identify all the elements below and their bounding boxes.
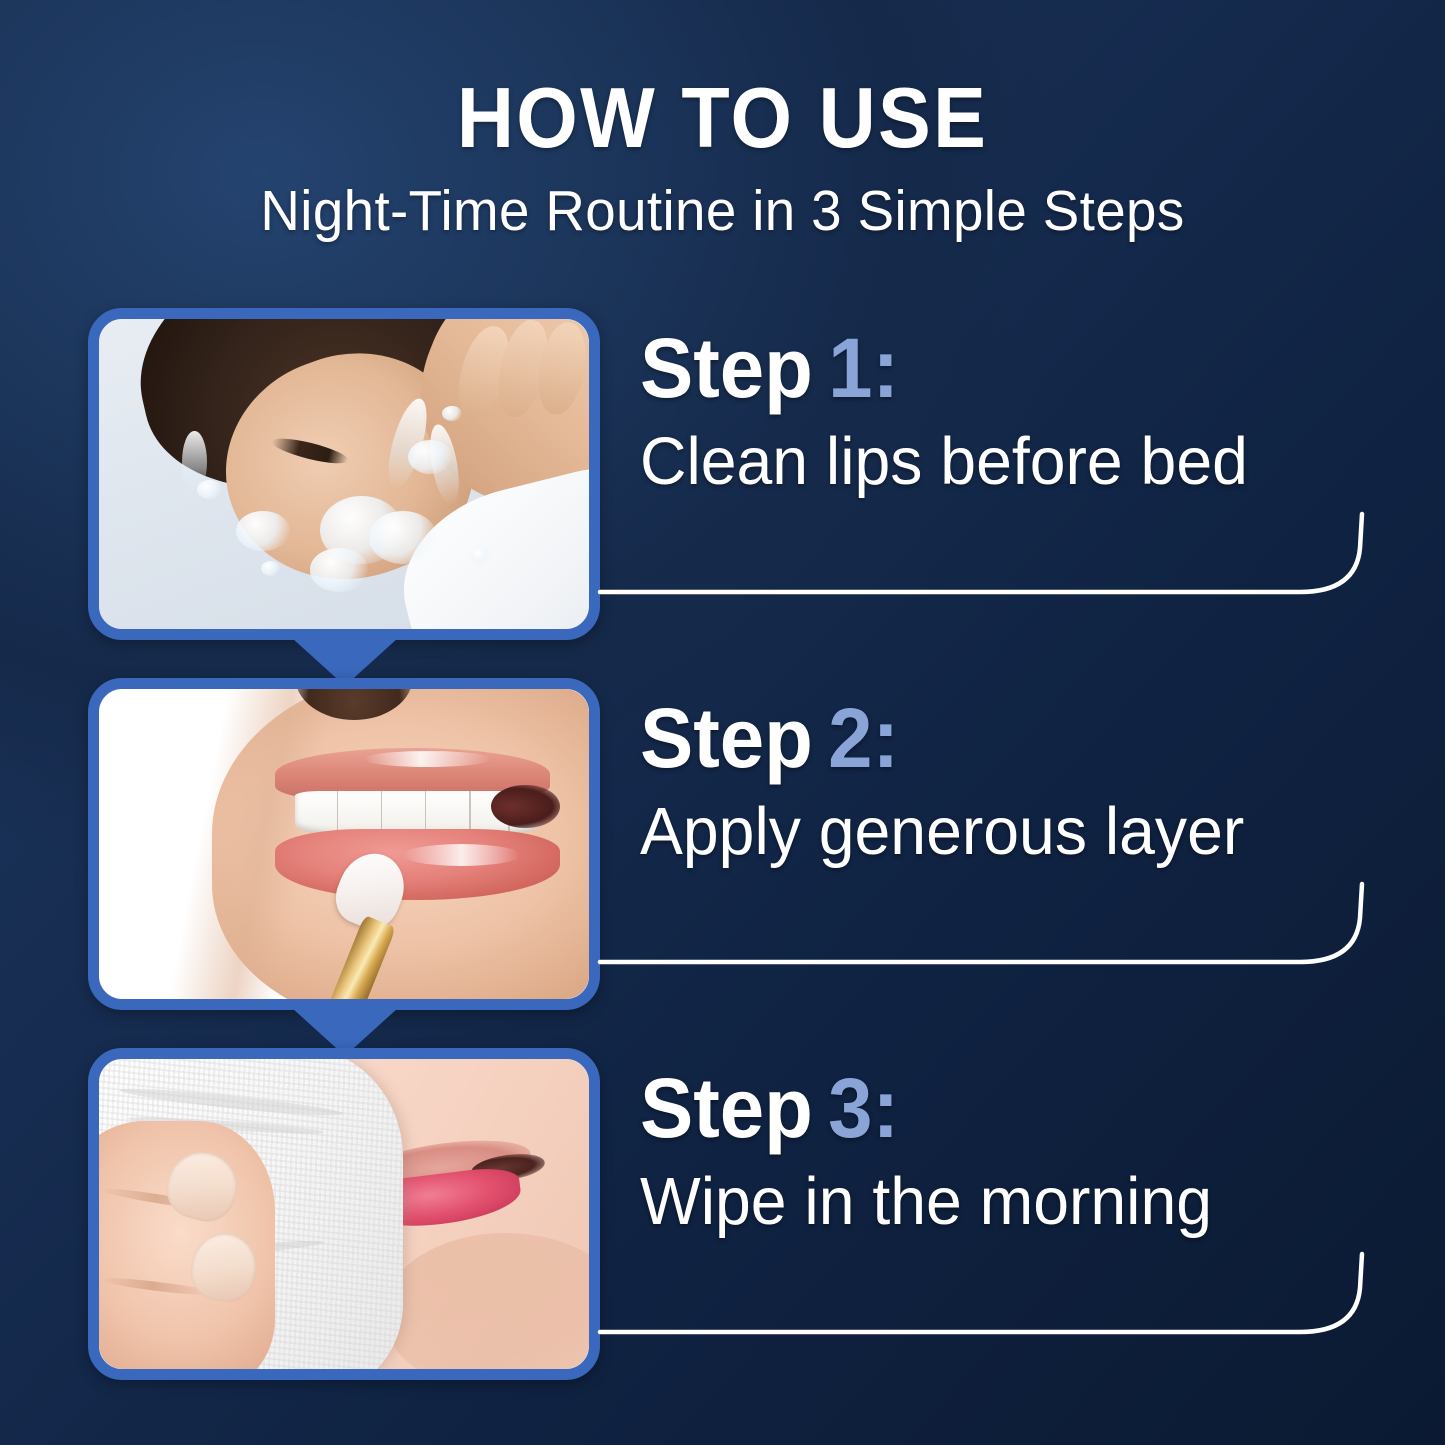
step-3-label: Step (640, 1061, 813, 1155)
step-1-label: Step (640, 321, 813, 415)
step-block-2: Step2: Apply generous layer (0, 678, 1445, 1038)
step-3-underline (600, 1248, 1390, 1340)
step-2-label: Step (640, 691, 813, 785)
step-2-image-frame (88, 678, 600, 1010)
lower-lip (275, 829, 559, 900)
step-1-description: Clean lips before bed (640, 428, 1248, 495)
infographic-canvas: HOW TO USE Night-Time Routine in 3 Simpl… (0, 0, 1445, 1445)
step-3-number: 3: (828, 1061, 899, 1155)
upper-lip-shine (364, 751, 491, 767)
step-2-text: Step2: Apply generous layer (632, 678, 1422, 1010)
water-droplet-1 (197, 480, 222, 499)
scene-apply-balm (99, 689, 589, 999)
scene-wipe-towel (99, 1059, 589, 1369)
page-title: HOW TO USE (51, 76, 1395, 161)
step-1-text: Step1: Clean lips before bed (632, 308, 1422, 640)
step-2-underline (600, 878, 1390, 970)
page-subtitle: Night-Time Routine in 3 Simple Steps (29, 183, 1416, 240)
water-droplet-2 (261, 561, 281, 577)
chin-highlight (383, 1233, 589, 1369)
water-droplet-3 (442, 406, 462, 422)
step-2-heading: Step2: (640, 696, 899, 780)
step-3-image-frame (88, 1048, 600, 1380)
step-3-description: Wipe in the morning (640, 1168, 1212, 1235)
water-splash-2 (369, 511, 438, 564)
step-1-underline (600, 508, 1390, 600)
water-splash-5 (310, 548, 369, 591)
step-block-3: Step3: Wipe in the morning (0, 1048, 1445, 1408)
step-1-image-frame (88, 308, 600, 640)
lower-lip-shine (403, 844, 521, 866)
step-1-heading: Step1: (640, 326, 899, 410)
header: HOW TO USE Night-Time Routine in 3 Simpl… (0, 76, 1445, 240)
step-3-text: Step3: Wipe in the morning (632, 1048, 1422, 1380)
step-3-heading: Step3: (640, 1066, 899, 1150)
step-2-description: Apply generous layer (640, 798, 1244, 865)
step-2-photo (99, 689, 589, 999)
step-2-number: 2: (828, 691, 899, 785)
water-droplet-4 (471, 548, 491, 564)
scene-face-wash (99, 319, 589, 629)
step-1-photo (99, 319, 589, 629)
step-1-number: 1: (828, 321, 899, 415)
step-3-photo (99, 1059, 589, 1369)
water-splash-4 (408, 440, 452, 474)
step-block-1: Step1: Clean lips before bed (0, 308, 1445, 668)
mouth-corner-shadow (491, 785, 560, 828)
